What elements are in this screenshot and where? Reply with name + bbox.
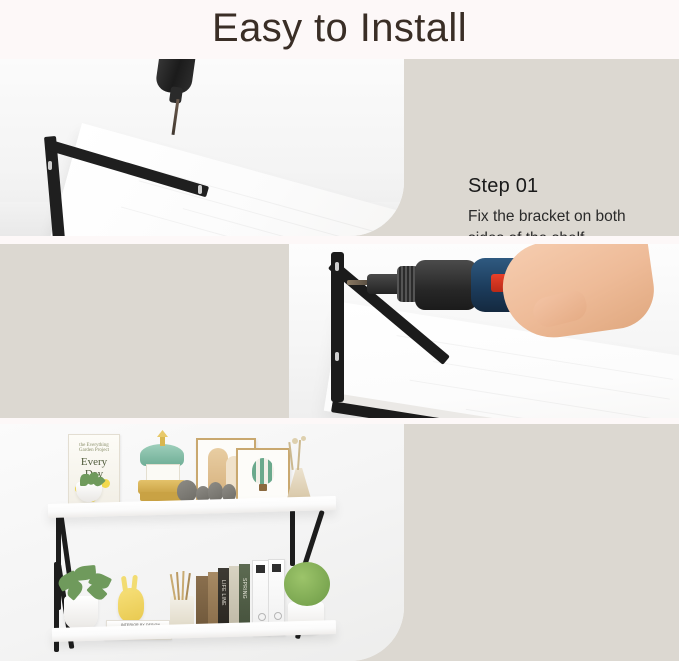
step-2-photo	[289, 244, 679, 418]
decor-stone-sphere-1	[177, 480, 197, 502]
page-title: Easy to Install	[0, 0, 679, 57]
triangle-bracket	[38, 137, 228, 236]
drill-tool	[152, 59, 198, 137]
step-1-photo	[0, 59, 404, 236]
step-1-description: Fix the bracket on both sides of the she…	[468, 206, 668, 236]
decor-topiary-foliage	[284, 562, 330, 606]
step-panel-3: the Everything Garden Project Every Day	[0, 424, 679, 661]
step-1-title: Step 01	[468, 175, 668, 197]
book-spine-label-2: SPRING	[241, 578, 247, 599]
step-panel-2: Step 02 Drill long screws into the wall …	[0, 244, 679, 418]
decor-plant-pot-left	[64, 596, 98, 630]
decor-carousel-canopy	[140, 444, 184, 466]
install-instructions-page: Easy to Install	[0, 0, 679, 661]
decor-bunny-figurine	[118, 588, 144, 622]
book-spine-label-1: LIFE LINE	[220, 580, 226, 606]
book-subtitle: the Everything Garden Project	[73, 443, 115, 454]
step-3-photo: the Everything Garden Project Every Day	[0, 424, 404, 661]
shelf-bracket-right-upper	[290, 510, 295, 566]
step-1-text-block: Step 01 Fix the bracket on both sides of…	[468, 175, 668, 236]
step-panel-1: Step 01 Fix the bracket on both sides of…	[0, 59, 679, 236]
